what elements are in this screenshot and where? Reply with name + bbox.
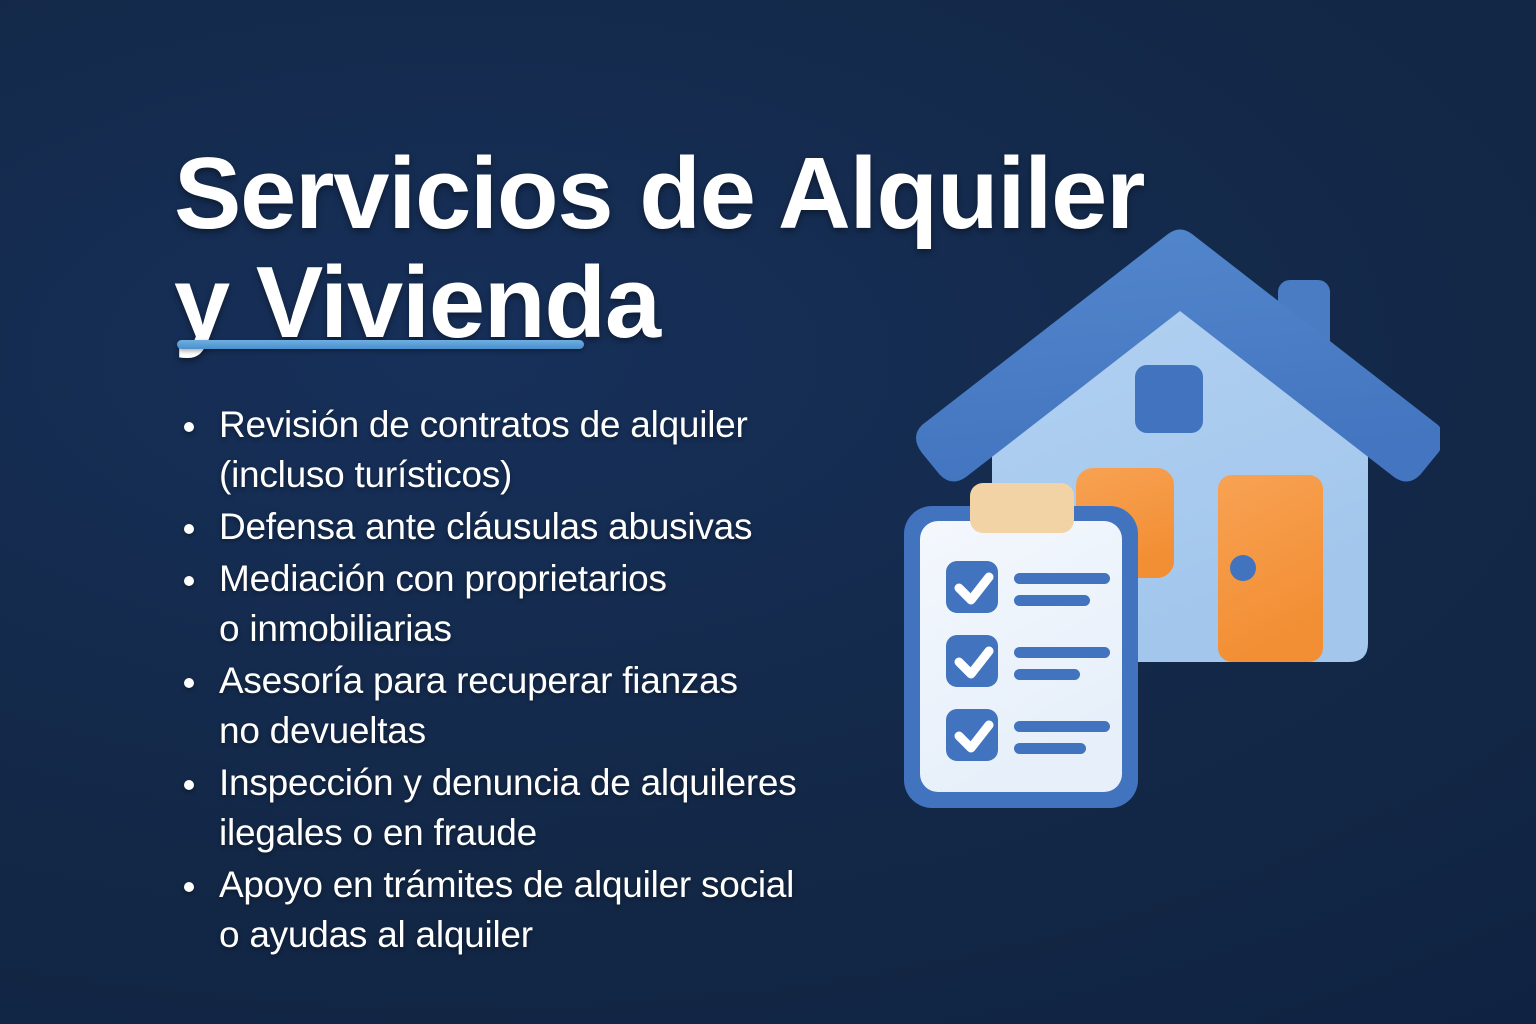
list-item: Asesoría para recuperar fianzas no devue…: [176, 656, 921, 756]
clipboard-clip-shape: [970, 483, 1074, 533]
list-item: Mediación con proprietarios o inmobiliar…: [176, 554, 921, 654]
text-line: [1014, 669, 1080, 680]
list-item: Apoyo en trámites de alquiler social o a…: [176, 860, 921, 960]
door-knob-shape: [1230, 555, 1256, 581]
house-with-checklist-illustration: [880, 225, 1440, 825]
list-item: Revisión de contratos de alquiler (inclu…: [176, 400, 921, 500]
slide-canvas: Servicios de Alquiler y Vivienda Revisió…: [0, 0, 1536, 1024]
checkbox-checked-icon: [946, 635, 998, 687]
attic-window-shape: [1135, 365, 1203, 433]
title-accent-rule: [177, 340, 584, 349]
text-line: [1014, 743, 1086, 754]
checkbox-checked-icon: [946, 709, 998, 761]
list-item: Defensa ante cláusulas abusivas: [176, 502, 921, 552]
checkbox-checked-icon: [946, 561, 998, 613]
clipboard-shape: [904, 483, 1138, 808]
list-item: Inspección y denuncia de alquileres ileg…: [176, 758, 921, 858]
text-line: [1014, 595, 1090, 606]
services-bullet-list: Revisión de contratos de alquiler (inclu…: [176, 400, 921, 962]
front-door-shape: [1218, 475, 1323, 662]
text-line: [1014, 573, 1110, 584]
text-line: [1014, 721, 1110, 732]
text-line: [1014, 647, 1110, 658]
